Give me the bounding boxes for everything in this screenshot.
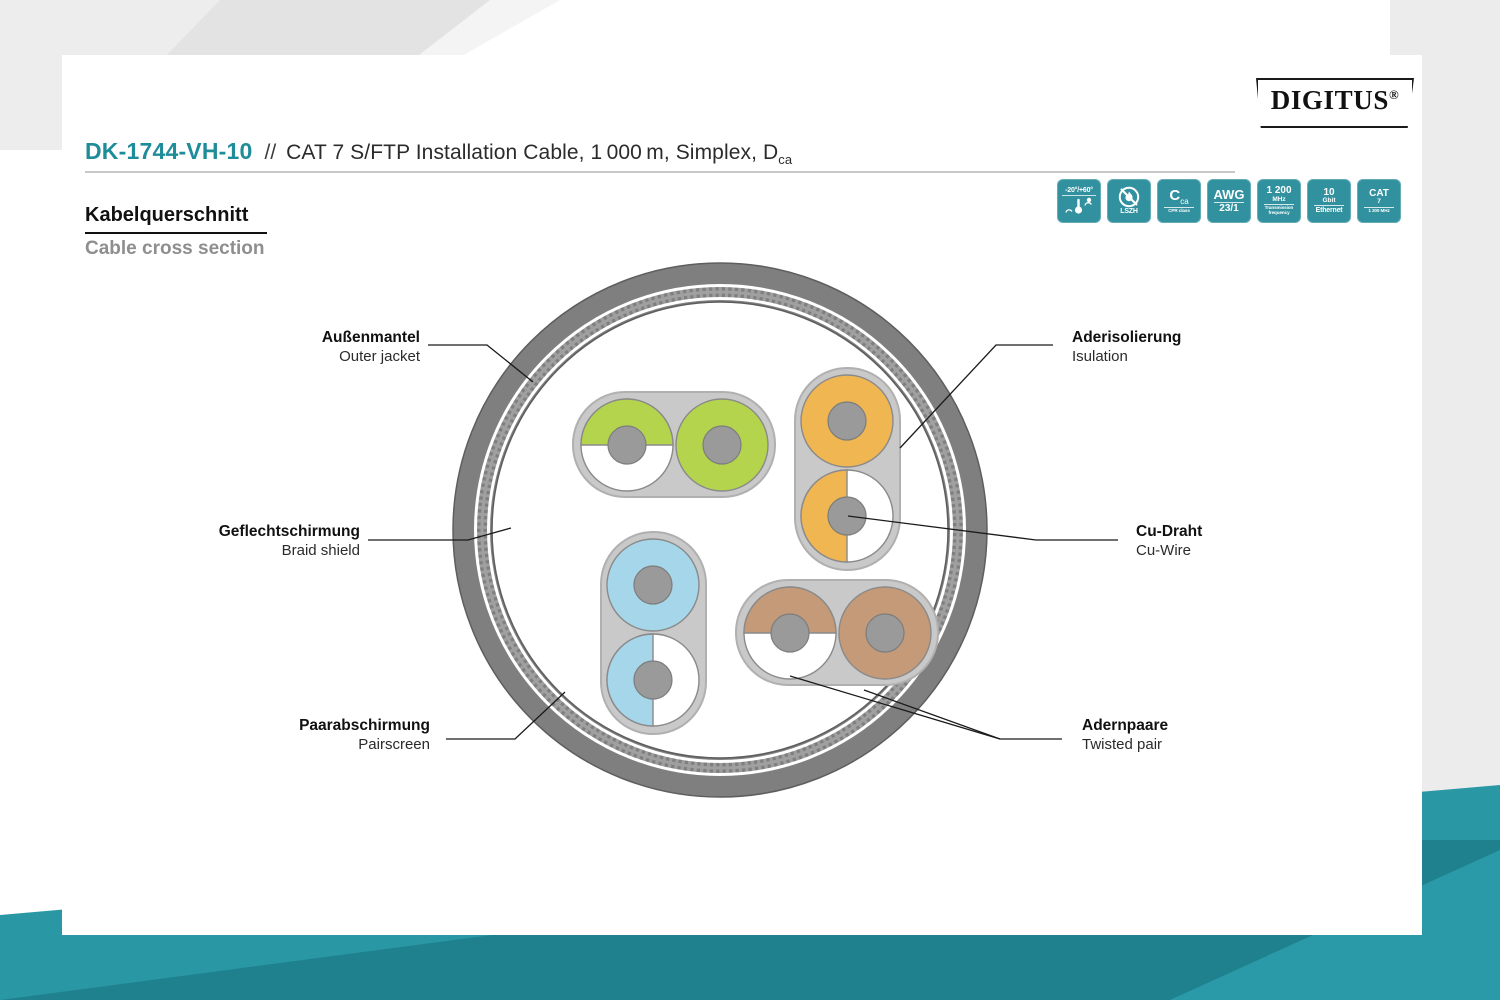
green-conductor-core	[703, 426, 741, 464]
green-white-conductor	[581, 399, 673, 491]
callout-cu-wire-en: Cu-Wire	[1136, 541, 1376, 561]
callout-insulation-en: Isulation	[1072, 347, 1312, 367]
blue-white-conductor-core	[634, 661, 672, 699]
orange-white-conductor-core	[828, 497, 866, 535]
callout-twisted-pair-en: Twisted pair	[1082, 735, 1322, 755]
callout-braid-shield-de: Geflechtschirmung	[120, 522, 360, 541]
callout-outer-jacket-de: Außenmantel	[180, 328, 420, 347]
orange-conductor	[801, 375, 893, 467]
green-white-conductor-core	[608, 426, 646, 464]
green-conductor	[676, 399, 768, 491]
blue-conductor	[607, 539, 699, 631]
callout-outer-jacket-en: Outer jacket	[180, 347, 420, 367]
brown-pair	[736, 580, 938, 685]
orange-conductor-core	[828, 402, 866, 440]
callout-cu-wire: Cu-Draht Cu-Wire	[1136, 522, 1376, 561]
callout-pairscreen-de: Paarabschirmung	[190, 716, 430, 735]
green-pair	[573, 392, 775, 497]
callout-pairscreen-en: Pairscreen	[190, 735, 430, 755]
cable-cross-section-diagram	[0, 0, 1500, 1000]
callout-cu-wire-de: Cu-Draht	[1136, 522, 1376, 541]
callout-braid-shield-en: Braid shield	[120, 541, 360, 561]
blue-conductor-core	[634, 566, 672, 604]
callout-pairscreen: Paarabschirmung Pairscreen	[190, 716, 430, 755]
callout-twisted-pair: Adernpaare Twisted pair	[1082, 716, 1322, 755]
callout-insulation: Aderisolierung Isulation	[1072, 328, 1312, 367]
callout-outer-jacket: Außenmantel Outer jacket	[180, 328, 420, 367]
blue-pair	[601, 532, 706, 734]
brown-conductor-core	[866, 614, 904, 652]
callout-insulation-de: Aderisolierung	[1072, 328, 1312, 347]
blue-white-conductor	[607, 634, 699, 726]
orange-pair	[795, 368, 900, 570]
orange-white-conductor	[801, 470, 893, 562]
callout-twisted-pair-de: Adernpaare	[1082, 716, 1322, 735]
slide-canvas: DIGITUS® DK-1744-VH-10 // CAT 7 S/FTP In…	[0, 0, 1500, 1000]
callout-braid-shield: Geflechtschirmung Braid shield	[120, 522, 360, 561]
brown-white-conductor-core	[771, 614, 809, 652]
brown-white-conductor	[744, 587, 836, 679]
brown-conductor	[839, 587, 931, 679]
